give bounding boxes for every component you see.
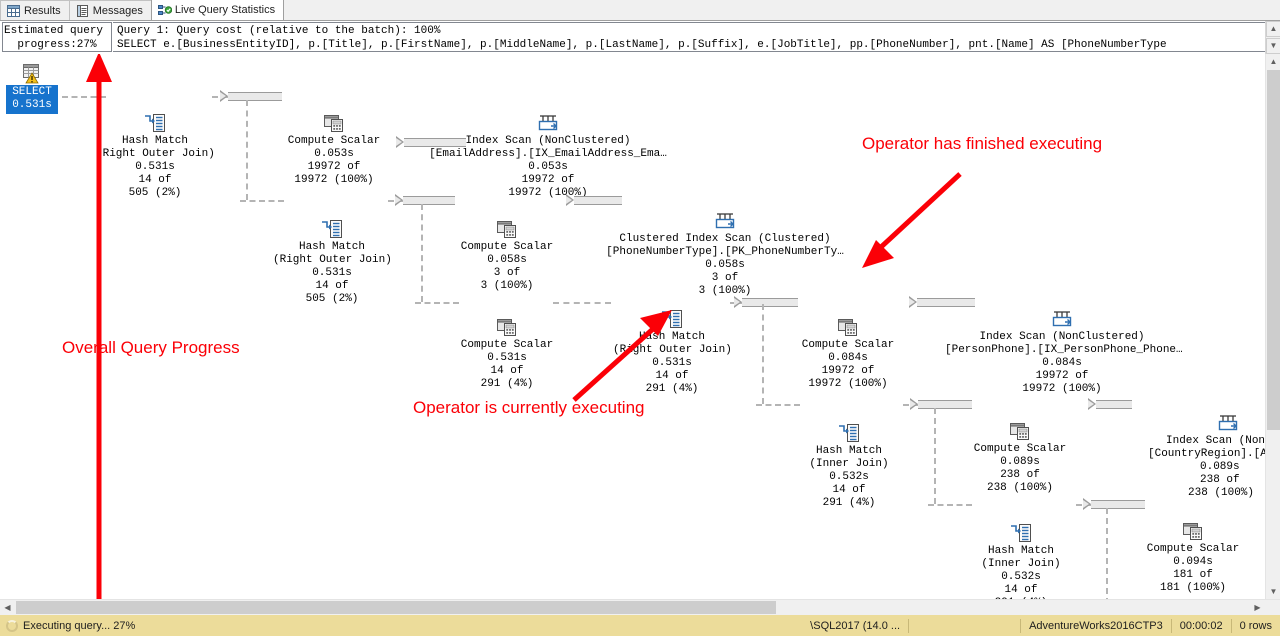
compute-scalar-icon xyxy=(455,316,559,338)
connector-v-row5-row6 xyxy=(1106,508,1108,599)
arrowhead-indexscan-email xyxy=(396,136,404,148)
status-right-group: \SQL2017 (14.0 ... AdventureWorks2016CTP… xyxy=(802,615,1280,636)
index-scan-countryregion-rows-actual: 238 of xyxy=(1130,474,1265,487)
compute-scalar-icon xyxy=(796,316,900,338)
compute-scalar-3-rows-actual: 14 of xyxy=(455,365,559,378)
connector-v-row2-row3 xyxy=(421,204,423,302)
compute-scalar-6-name: Compute Scalar xyxy=(1141,543,1245,556)
tab-messages[interactable]: Messages xyxy=(69,0,152,20)
connector-h-hashmatch5 xyxy=(928,504,972,506)
scroll-right-button[interactable]: ▶ xyxy=(1250,600,1265,615)
clustered-index-scan-name: Clustered Index Scan (Clustered) xyxy=(606,233,844,246)
arrowhead-computescalar4 xyxy=(734,296,742,308)
compute-scalar-6-rows-actual: 181 of xyxy=(1141,569,1245,582)
index-scan-countryregion-rows-estimate: 238 (100%) xyxy=(1130,487,1265,500)
estimated-progress-label: Estimated query xyxy=(3,24,111,38)
index-scan-icon xyxy=(425,112,671,134)
scroll-down-button[interactable]: ▼ xyxy=(1266,584,1280,599)
index-scan-icon xyxy=(1130,412,1265,434)
tab-live-query-statistics[interactable]: Live Query Statistics xyxy=(151,0,284,20)
compute-scalar-icon xyxy=(968,420,1072,442)
compute-scalar-5-rows-estimate: 238 (100%) xyxy=(968,482,1072,495)
executing-spinner-icon xyxy=(6,620,18,632)
connector-h-computescalar3 xyxy=(415,302,459,304)
index-scan-personphone-rows-estimate: 19972 (100%) xyxy=(945,383,1179,396)
live-query-statistics-window: Results Messages xyxy=(0,0,1280,636)
plan-node-clustered-index-scan[interactable]: Clustered Index Scan (Clustered) [PhoneN… xyxy=(606,210,844,298)
index-scan-personphone-rows-actual: 19972 of xyxy=(945,370,1179,383)
annotation-operator-currently-executing: Operator is currently executing xyxy=(413,398,645,418)
horizontal-scroll-thumb[interactable] xyxy=(16,601,776,614)
compute-scalar-1-time: 0.053s xyxy=(282,148,386,161)
plan-node-compute-scalar-2[interactable]: Compute Scalar 0.058s 3 of 3 (100%) xyxy=(455,218,559,293)
tab-messages-label: Messages xyxy=(93,5,143,17)
connector-h-hashmatch2 xyxy=(240,200,284,202)
query-header-band: Estimated query progress:27% Query 1: Qu… xyxy=(0,21,1280,53)
arrowhead-indexscan-personphone xyxy=(909,296,917,308)
results-tabstrip: Results Messages xyxy=(0,0,1280,21)
compute-scalar-6-rows-estimate: 181 (100%) xyxy=(1141,582,1245,595)
compute-scalar-icon xyxy=(455,218,559,240)
compute-scalar-1-rows-estimate: 19972 (100%) xyxy=(282,174,386,187)
tab-results[interactable]: Results xyxy=(0,0,70,20)
clustered-index-scan-rows-actual: 3 of xyxy=(606,272,844,285)
scroll-up-button[interactable]: ▲ xyxy=(1266,54,1280,69)
compute-scalar-4-rows-estimate: 19972 (100%) xyxy=(796,378,900,391)
vertical-scroll-thumb[interactable] xyxy=(1267,70,1280,430)
arrowhead-computescalar5 xyxy=(910,398,918,410)
plan-node-index-scan-countryregion[interactable]: Index Scan (NonClu [CountryRegion].[AK_C… xyxy=(1130,412,1265,500)
hash-match-4-rows-actual: 14 of xyxy=(790,484,908,497)
message-icon xyxy=(76,5,89,17)
compute-scalar-4-name: Compute Scalar xyxy=(796,339,900,352)
hash-match-4-rows-estimate: 291 (4%) xyxy=(790,497,908,510)
scroll-left-button[interactable]: ◀ xyxy=(0,600,15,615)
annotation-overall-query-progress: Overall Query Progress xyxy=(62,338,240,358)
plan-node-index-scan-personphone[interactable]: Index Scan (NonClustered) [PersonPhone].… xyxy=(945,308,1179,396)
status-row-count: 0 rows xyxy=(1231,619,1280,633)
plan-node-hash-match-5[interactable]: Hash Match (Inner Join) 0.532s 14 of 291… xyxy=(962,522,1080,599)
status-bar: Executing query... 27% \SQL2017 (14.0 ..… xyxy=(0,615,1280,636)
index-scan-email-object: [EmailAddress].[IX_EmailAddress_Ema… xyxy=(425,148,671,161)
query-cost-line: Query 1: Query cost (relative to the bat… xyxy=(117,24,1265,38)
compute-scalar-1-rows-actual: 19972 of xyxy=(282,161,386,174)
compute-scalar-2-name: Compute Scalar xyxy=(455,241,559,254)
select-result-icon xyxy=(4,62,60,84)
plan-node-compute-scalar-5[interactable]: Compute Scalar 0.089s 238 of 238 (100%) xyxy=(968,420,1072,495)
plan-vertical-scrollbar[interactable]: ▲ ▼ xyxy=(1265,54,1280,599)
arrow-indexscan-personphone-computescalar4 xyxy=(917,298,975,307)
estimated-query-progress-box: Estimated query progress:27% xyxy=(2,22,112,52)
plan-node-hash-match-2[interactable]: Hash Match (Right Outer Join) 0.531s 14 … xyxy=(273,218,391,306)
hash-match-icon xyxy=(790,422,908,444)
compute-scalar-3-time: 0.531s xyxy=(455,352,559,365)
index-scan-icon xyxy=(945,308,1179,330)
compute-scalar-2-rows-estimate: 3 (100%) xyxy=(455,280,559,293)
arrowhead-computescalar2 xyxy=(395,194,403,206)
compute-scalar-4-rows-actual: 19972 of xyxy=(796,365,900,378)
select-node-badge: SELECT 0.531s xyxy=(6,85,58,114)
compute-scalar-3-name: Compute Scalar xyxy=(455,339,559,352)
status-database: AdventureWorks2016CTP3 xyxy=(1020,619,1171,633)
arrow-indexscan-countryregion xyxy=(1096,400,1132,409)
arrowhead-indexscan-countryregion xyxy=(1088,398,1096,410)
hash-match-2-time: 0.531s xyxy=(273,267,391,280)
plan-node-select[interactable]: SELECT 0.531s xyxy=(4,62,60,114)
hash-match-2-rows-actual: 14 of xyxy=(273,280,391,293)
index-scan-email-rows-estimate: 19972 (100%) xyxy=(425,187,671,200)
connector-v-row1-row2 xyxy=(246,100,248,200)
hash-match-2-name: Hash Match xyxy=(273,241,391,254)
arrow-clusteredscan-computescalar2 xyxy=(574,196,622,205)
arrow-computescalar2-hashmatch2 xyxy=(403,196,455,205)
index-scan-personphone-time: 0.084s xyxy=(945,357,1179,370)
arrow-computescalar5-hashmatch4 xyxy=(918,400,972,409)
hash-match-icon xyxy=(273,218,391,240)
status-blank-cell xyxy=(908,619,1020,633)
arrow-computescalar6-hashmatch5 xyxy=(1091,500,1145,509)
select-node-label: SELECT xyxy=(12,86,52,99)
hash-match-5-rows-actual: 14 of xyxy=(962,584,1080,597)
compute-scalar-2-time: 0.058s xyxy=(455,254,559,267)
index-scan-countryregion-time: 0.089s xyxy=(1130,461,1265,474)
header-scroll-down-button[interactable]: ▼ xyxy=(1266,38,1280,54)
header-scroll-up-button[interactable]: ▲ xyxy=(1266,21,1280,37)
plan-node-index-scan-email[interactable]: Index Scan (NonClustered) [EmailAddress]… xyxy=(425,112,671,200)
select-node-time: 0.531s xyxy=(12,99,52,112)
arrow-computescalar1-hashmatch1 xyxy=(228,92,282,101)
hash-match-5-time: 0.532s xyxy=(962,571,1080,584)
clustered-index-scan-time: 0.058s xyxy=(606,259,844,272)
status-text: Executing query... 27% xyxy=(23,620,135,632)
plan-node-compute-scalar-3[interactable]: Compute Scalar 0.531s 14 of 291 (4%) xyxy=(455,316,559,391)
query-text-line: SELECT e.[BusinessEntityID], p.[Title], … xyxy=(117,38,1265,52)
connector-v-row4-row5 xyxy=(934,408,936,504)
hash-match-4-time: 0.532s xyxy=(790,471,908,484)
compute-scalar-4-time: 0.084s xyxy=(796,352,900,365)
execution-plan-canvas[interactable]: SELECT 0.531s Has xyxy=(0,54,1265,599)
status-server: \SQL2017 (14.0 ... xyxy=(802,619,908,633)
hash-match-5-subtitle: (Inner Join) xyxy=(962,558,1080,571)
index-scan-countryregion-object: [CountryRegion].[AK_Cou xyxy=(1130,448,1265,461)
plan-horizontal-scrollbar[interactable]: ◀ ▶ xyxy=(0,599,1280,615)
status-elapsed-time: 00:00:02 xyxy=(1171,619,1231,633)
hash-match-5-name: Hash Match xyxy=(962,545,1080,558)
live-stats-icon xyxy=(158,4,171,16)
connector-h-hashmatch4 xyxy=(756,404,800,406)
hash-match-4-subtitle: (Inner Join) xyxy=(790,458,908,471)
compute-scalar-2-rows-actual: 3 of xyxy=(455,267,559,280)
hash-match-2-subtitle: (Right Outer Join) xyxy=(273,254,391,267)
index-scan-icon xyxy=(606,210,844,232)
compute-scalar-6-time: 0.094s xyxy=(1141,556,1245,569)
tab-results-label: Results xyxy=(24,5,61,17)
annotation-operator-finished-executing: Operator has finished executing xyxy=(862,134,1102,154)
arrowhead-computescalar6 xyxy=(1083,498,1091,510)
status-left-group: Executing query... 27% xyxy=(0,620,802,632)
index-scan-personphone-name: Index Scan (NonClustered) xyxy=(945,331,1179,344)
compute-scalar-3-rows-estimate: 291 (4%) xyxy=(455,378,559,391)
connector-v-row3-row4 xyxy=(762,304,764,404)
index-scan-email-name: Index Scan (NonClustered) xyxy=(425,135,671,148)
header-scroll-buttons[interactable]: ▲ ▼ xyxy=(1265,21,1280,54)
query-cost-box: Query 1: Query cost (relative to the bat… xyxy=(113,22,1266,52)
index-scan-email-rows-actual: 19972 of xyxy=(425,174,671,187)
hash-match-icon xyxy=(962,522,1080,544)
compute-scalar-icon xyxy=(1141,520,1245,542)
index-scan-personphone-object: [PersonPhone].[IX_PersonPhone_Phone… xyxy=(945,344,1179,357)
compute-scalar-5-name: Compute Scalar xyxy=(968,443,1072,456)
compute-scalar-5-rows-actual: 238 of xyxy=(968,469,1072,482)
compute-scalar-1-name: Compute Scalar xyxy=(282,135,386,148)
clustered-index-scan-object: [PhoneNumberType].[PK_PhoneNumberTy… xyxy=(606,246,844,259)
plan-node-compute-scalar-1[interactable]: Compute Scalar 0.053s 19972 of 19972 (10… xyxy=(282,112,386,187)
tab-live-query-statistics-label: Live Query Statistics xyxy=(175,4,275,16)
plan-node-compute-scalar-6[interactable]: Compute Scalar 0.094s 181 of 181 (100%) xyxy=(1141,520,1245,595)
clustered-index-scan-rows-estimate: 3 (100%) xyxy=(606,285,844,298)
estimated-progress-value: progress:27% xyxy=(3,38,111,52)
arrowhead-computescalar1-hashmatch1 xyxy=(220,90,228,102)
plan-node-compute-scalar-4[interactable]: Compute Scalar 0.084s 19972 of 19972 (10… xyxy=(796,316,900,391)
compute-scalar-icon xyxy=(282,112,386,134)
annotation-arrow-currently-executing xyxy=(566,304,676,404)
hash-match-2-rows-estimate: 505 (2%) xyxy=(273,293,391,306)
annotation-arrow-finished-executing xyxy=(852,164,968,276)
index-scan-countryregion-name: Index Scan (NonClu xyxy=(1130,435,1265,448)
index-scan-email-time: 0.053s xyxy=(425,161,671,174)
arrowhead-clusteredscan xyxy=(566,194,574,206)
hash-match-4-name: Hash Match xyxy=(790,445,908,458)
arrow-computescalar4-hashmatch3 xyxy=(742,298,798,307)
compute-scalar-5-time: 0.089s xyxy=(968,456,1072,469)
annotation-arrow-overall-progress xyxy=(82,54,116,599)
plan-node-hash-match-4[interactable]: Hash Match (Inner Join) 0.532s 14 of 291… xyxy=(790,422,908,510)
grid-icon xyxy=(7,5,20,17)
